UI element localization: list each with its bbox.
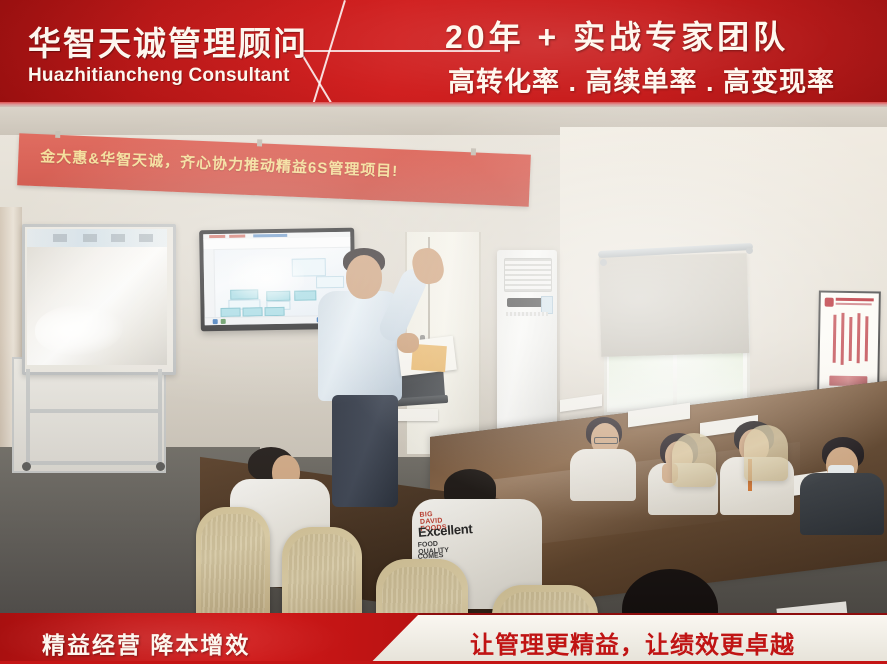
taskbar-icon xyxy=(221,319,226,324)
header-tagline-primary: 20年 + 实战专家团队 xyxy=(445,12,789,58)
meeting-photograph: 金大惠&华智天诚，齐心协力推动精益6S管理项目! xyxy=(0,107,887,613)
ac-vent-slats xyxy=(506,312,548,316)
poster-title-line xyxy=(836,298,874,302)
brand-name-chinese: 华智天诚管理顾问 xyxy=(28,17,308,65)
whiteboard-header-block xyxy=(83,234,97,242)
poster-text-column xyxy=(833,315,837,363)
banner-clip xyxy=(55,131,60,138)
poster-text-column xyxy=(841,313,845,365)
whiteboard xyxy=(22,224,176,375)
poster-text-column xyxy=(857,313,861,363)
whiteboard-header-strip xyxy=(27,229,167,247)
chair-upholstery xyxy=(382,567,461,613)
footer-slogan-left: 精益经营 降本增效 xyxy=(42,626,250,660)
whiteboard-leg xyxy=(26,369,30,465)
whiteboard-surface xyxy=(27,247,167,365)
whiteboard-caster xyxy=(22,462,31,471)
chair[interactable] xyxy=(744,425,788,481)
attendee-glasses xyxy=(594,437,618,444)
footer-bar: 精益经营 降本增效 让管理更精益，让绩效更卓越 xyxy=(0,613,887,664)
chair-upholstery xyxy=(499,592,590,613)
app-tab xyxy=(229,235,245,238)
whiteboard-stand xyxy=(18,369,173,469)
chair[interactable] xyxy=(492,585,598,613)
app-sidebar xyxy=(203,249,215,325)
diagram-node xyxy=(264,307,284,316)
whiteboard-base-bar xyxy=(26,461,160,465)
taskbar-icon xyxy=(213,319,218,324)
chair[interactable] xyxy=(282,527,362,613)
poster-text-column xyxy=(849,317,853,361)
diagram-node xyxy=(316,276,344,288)
whiteboard-leg xyxy=(158,369,162,465)
banner-clip xyxy=(257,139,262,146)
whiteboard-crossbar xyxy=(26,409,160,413)
whiteboard-header-block xyxy=(111,234,125,242)
diagram-node xyxy=(220,308,240,317)
attendee-body xyxy=(570,449,636,501)
blind-bracket xyxy=(600,259,607,266)
header-tagline-secondary: 高转化率 . 高续单率 . 高变现率 xyxy=(448,60,835,99)
diagram-node xyxy=(242,307,262,316)
header-diagonal-stripe-a xyxy=(309,0,346,107)
whiteboard-header-block xyxy=(139,234,153,242)
room-banner-text: 金大惠&华智天诚，齐心协力推动精益6S管理项目! xyxy=(40,145,399,181)
presenter-head xyxy=(346,255,382,299)
presenter-hand-holding xyxy=(397,333,419,353)
banner-clip xyxy=(471,148,476,155)
poster-text-column xyxy=(865,316,869,361)
presenter-trousers xyxy=(332,395,398,507)
whiteboard-header-block xyxy=(53,234,67,242)
chair-upholstery xyxy=(288,534,357,613)
chair-upholstery xyxy=(201,514,265,614)
poster-company-logo xyxy=(825,298,834,307)
marketing-poster: 华智天诚管理顾问 Huazhitiancheng Consultant 20年 … xyxy=(0,0,887,664)
blind-bracket xyxy=(746,247,753,254)
chair[interactable] xyxy=(196,507,270,613)
footer-slogan-right: 让管理更精益，让绩效更卓越 xyxy=(470,625,795,660)
whiteboard-glare xyxy=(35,305,123,355)
screen-glare xyxy=(229,255,305,302)
roller-blind[interactable] xyxy=(599,253,750,357)
app-tab-active xyxy=(253,234,287,238)
brand-name-english: Huazhitiancheng Consultant xyxy=(28,65,290,87)
wall-framed-poster xyxy=(817,290,881,393)
header-bar: 华智天诚管理顾问 Huazhitiancheng Consultant 20年 … xyxy=(0,0,887,107)
whiteboard-caster xyxy=(156,462,165,471)
chair[interactable] xyxy=(672,433,716,487)
app-tab xyxy=(209,235,225,238)
poster-subtitle-line xyxy=(836,303,872,306)
ac-air-grill xyxy=(504,258,552,292)
app-ribbon xyxy=(203,237,350,251)
attendee-body xyxy=(800,473,884,535)
chair[interactable] xyxy=(376,559,468,613)
